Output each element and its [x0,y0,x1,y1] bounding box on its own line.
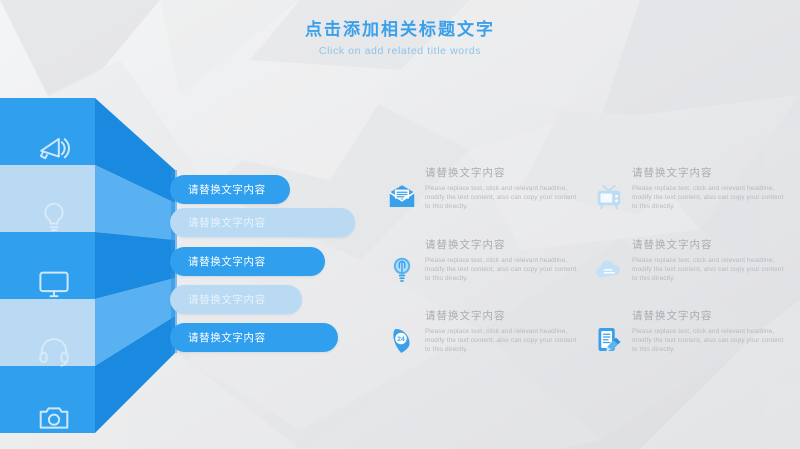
slide-title-block: 点击添加相关标题文字 Click on add related title wo… [0,18,800,59]
content-heading-5: 请替换文字内容 [425,309,581,324]
content-cell-6[interactable]: 请替换文字内容 Please replace text, click and r… [592,309,790,371]
funnel-front-3 [0,232,95,299]
funnel-pill-label-4: 请替换文字内容 [170,292,266,307]
content-grid: 请替换文字内容 Please replace text, click and r… [385,166,790,371]
content-body-5: Please replace text, click and relevant … [425,327,581,355]
mail-icon [385,180,419,214]
content-heading-3: 请替换文字内容 [425,238,581,253]
content-text-3: 请替换文字内容 Please replace text, click and r… [425,238,581,284]
content-cell-4[interactable]: 请替换文字内容 Please replace text, click and r… [592,238,790,300]
content-heading-2: 请替换文字内容 [632,166,788,181]
content-cell-3[interactable]: 请替换文字内容 Please replace text, click and r… [385,238,583,300]
content-heading-1: 请替换文字内容 [425,166,581,181]
support-24-phone-icon: 24 [385,323,419,357]
tv-icon [592,180,626,214]
page-subtitle: Click on add related title words [0,43,800,59]
funnel-pill-4[interactable]: 请替换文字内容 [170,285,302,314]
content-body-1: Please replace text, click and relevant … [425,184,581,212]
funnel-pill-2[interactable]: 请替换文字内容 [170,208,355,237]
content-text-4: 请替换文字内容 Please replace text, click and r… [632,238,788,284]
content-cell-1[interactable]: 请替换文字内容 Please replace text, click and r… [385,166,583,228]
content-text-1: 请替换文字内容 Please replace text, click and r… [425,166,581,212]
funnel-front-5 [0,366,95,433]
content-text-2: 请替换文字内容 Please replace text, click and r… [632,166,788,212]
content-cell-2[interactable]: 请替换文字内容 Please replace text, click and r… [592,166,790,228]
lightbulb-icon [385,252,419,286]
funnel-front-1 [0,98,95,165]
content-text-5: 请替换文字内容 Please replace text, click and r… [425,309,581,355]
funnel-pill-label-2: 请替换文字内容 [170,215,266,230]
funnel-front-4 [0,299,95,366]
funnel-pill-label-3: 请替换文字内容 [170,254,266,269]
content-text-6: 请替换文字内容 Please replace text, click and r… [632,309,788,355]
funnel-pill-5[interactable]: 请替换文字内容 [170,323,338,352]
content-heading-4: 请替换文字内容 [632,238,788,253]
content-body-4: Please replace text, click and relevant … [632,256,788,284]
funnel-pill-1[interactable]: 请替换文字内容 [170,175,290,204]
funnel-pill-3[interactable]: 请替换文字内容 [170,247,325,276]
slide-canvas: 点击添加相关标题文字 Click on add related title wo… [0,0,800,449]
cloud-icon [592,252,626,286]
content-body-3: Please replace text, click and relevant … [425,256,581,284]
page-title: 点击添加相关标题文字 [0,18,800,42]
svg-text:24: 24 [397,336,405,343]
document-pen-icon [592,323,626,357]
content-heading-6: 请替换文字内容 [632,309,788,324]
content-body-2: Please replace text, click and relevant … [632,184,788,212]
funnel-pill-label-1: 请替换文字内容 [170,182,266,197]
content-body-6: Please replace text, click and relevant … [632,327,788,355]
content-cell-5[interactable]: 24 请替换文字内容 Please replace text, click an… [385,309,583,371]
funnel-front-2 [0,165,95,232]
funnel-pill-label-5: 请替换文字内容 [170,330,266,345]
